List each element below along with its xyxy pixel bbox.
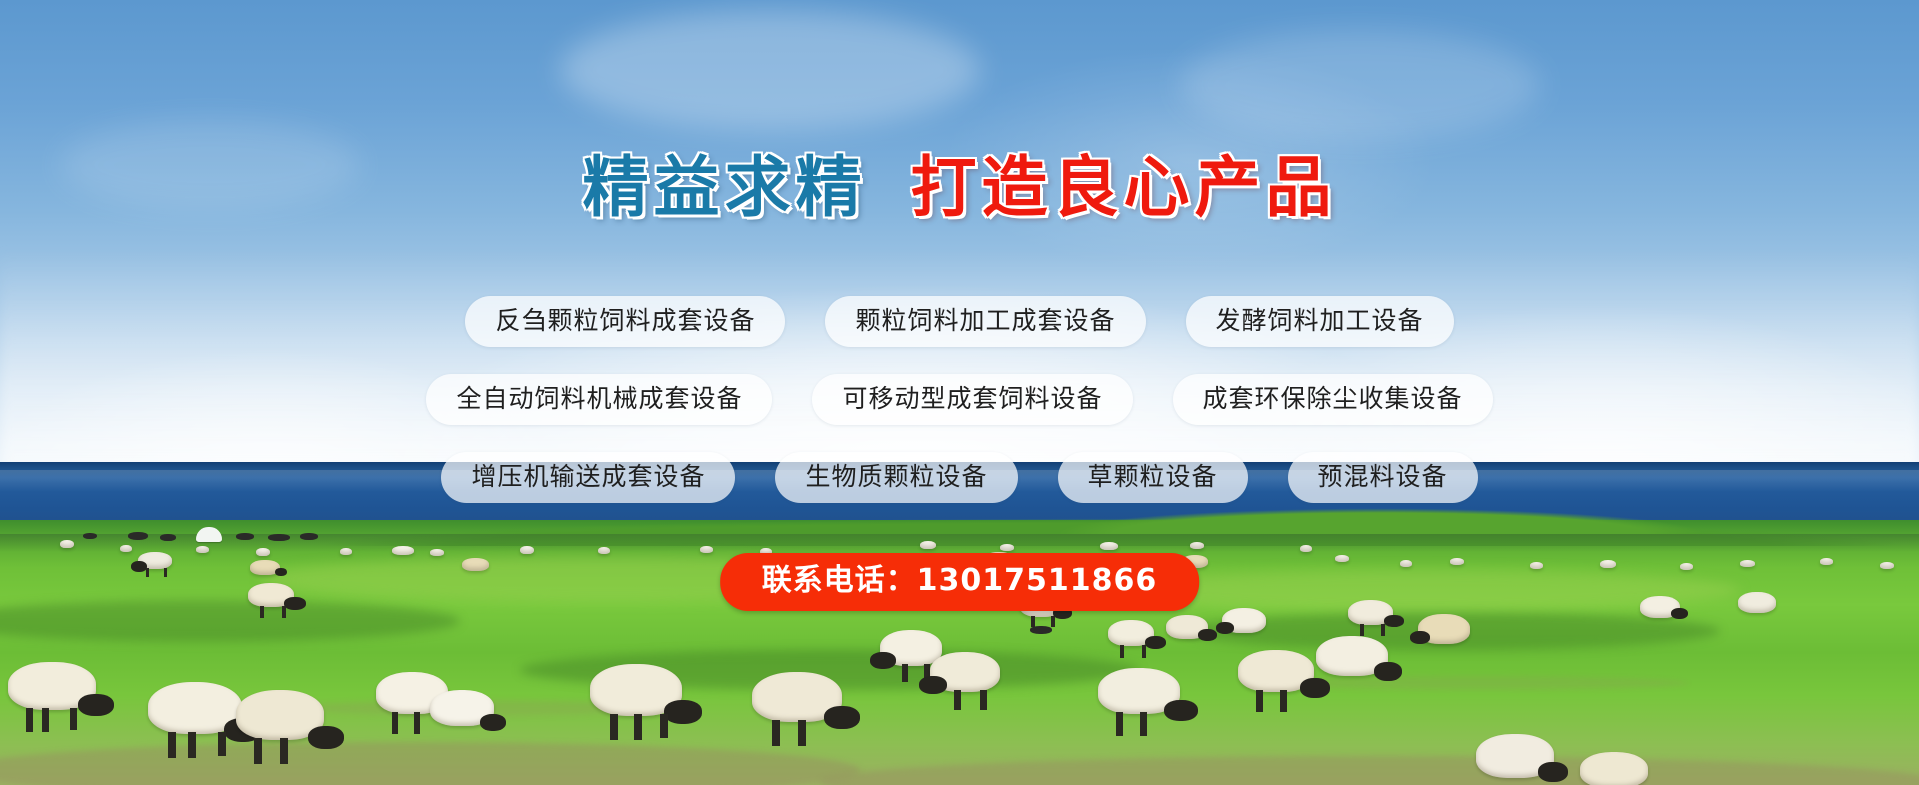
sheep (392, 546, 414, 555)
product-pill-row-1: 反刍颗粒饲料成套设备 颗粒饲料加工成套设备 发酵饲料加工设备 (0, 296, 1919, 347)
sheep (1300, 545, 1312, 552)
sheep (250, 560, 284, 576)
sheep (1600, 560, 1616, 568)
yak (160, 534, 176, 541)
product-pill-grass-pellet-equipment[interactable]: 草颗粒设备 (1058, 452, 1248, 503)
sheep (1108, 620, 1164, 654)
sheep (256, 548, 270, 556)
sheep (138, 552, 178, 572)
sheep (590, 664, 700, 736)
headline-red-text: 打造良心产品 (911, 149, 1337, 226)
yak (128, 532, 148, 540)
sheep (236, 690, 340, 760)
sheep (1000, 544, 1014, 551)
product-pill-automatic-feed-machinery-plant[interactable]: 全自动饲料机械成套设备 (426, 374, 772, 425)
sheep (1190, 542, 1204, 549)
sheep (1166, 615, 1216, 645)
headline-blue-text: 精益求精 (583, 149, 867, 226)
sheep (8, 662, 112, 728)
sheep (700, 546, 713, 553)
product-pill-row-3: 增压机输送成套设备 生物质颗粒设备 草颗粒设备 预混料设备 (0, 452, 1919, 503)
sheep (60, 540, 74, 548)
product-pill-fermented-feed-equipment[interactable]: 发酵饲料加工设备 (1186, 296, 1454, 347)
sheep (430, 549, 444, 556)
sheep (462, 558, 492, 572)
sheep (1418, 614, 1478, 650)
sheep (1316, 636, 1402, 690)
sheep (920, 541, 936, 549)
sheep (1820, 558, 1833, 565)
product-pill-premix-equipment[interactable]: 预混料设备 (1288, 452, 1478, 503)
product-pill-ruminant-pellet-feed-plant[interactable]: 反刍颗粒饲料成套设备 (465, 296, 785, 347)
sheep (1400, 560, 1412, 567)
sheep (520, 546, 534, 554)
yak (300, 533, 318, 540)
sheep (1680, 563, 1693, 570)
sheep (1880, 562, 1894, 569)
product-pill-booster-conveying-plant[interactable]: 增压机输送成套设备 (441, 452, 735, 503)
contact-phone-banner[interactable]: 联系电话：13017511866 (720, 553, 1200, 611)
yak (83, 533, 97, 539)
sheep (1530, 562, 1543, 569)
sheep (430, 690, 508, 742)
product-pill-row-2: 全自动饲料机械成套设备 可移动型成套饲料设备 成套环保除尘收集设备 (0, 374, 1919, 425)
sheep (1450, 558, 1464, 565)
product-pill-pellet-feed-processing-plant[interactable]: 颗粒饲料加工成套设备 (825, 296, 1145, 347)
yak (1030, 626, 1052, 634)
cloud-streak (560, 10, 980, 130)
headline: 精益求精打造良心产品 (0, 155, 1919, 221)
product-pill-dust-collection-equipment[interactable]: 成套环保除尘收集设备 (1173, 374, 1493, 425)
sheep (1222, 608, 1272, 638)
sheep (340, 548, 352, 555)
sheep (598, 547, 610, 554)
sheep (1476, 734, 1568, 785)
sheep (1100, 542, 1118, 550)
yak (268, 534, 290, 541)
sheep (196, 546, 209, 553)
hero-banner: 精益求精打造良心产品 反刍颗粒饲料成套设备 颗粒饲料加工成套设备 发酵饲料加工设… (0, 0, 1919, 785)
sheep (1580, 752, 1660, 785)
sheep (1335, 555, 1349, 562)
sheep (1738, 592, 1782, 616)
sheep (752, 672, 860, 742)
sheep (930, 652, 1014, 706)
cloud-streak (1180, 30, 1540, 140)
sheep (1348, 600, 1402, 632)
product-pill-groups: 反刍颗粒饲料成套设备 颗粒饲料加工成套设备 发酵饲料加工设备 全自动饲料机械成套… (0, 296, 1919, 530)
sheep (120, 545, 132, 552)
product-pill-biomass-pellet-equipment[interactable]: 生物质颗粒设备 (775, 452, 1017, 503)
sheep (1740, 560, 1755, 567)
product-pill-mobile-feed-plant[interactable]: 可移动型成套饲料设备 (812, 374, 1132, 425)
yak (236, 533, 254, 540)
sheep (248, 583, 304, 615)
sheep (1640, 596, 1686, 622)
sheep (1098, 668, 1196, 732)
